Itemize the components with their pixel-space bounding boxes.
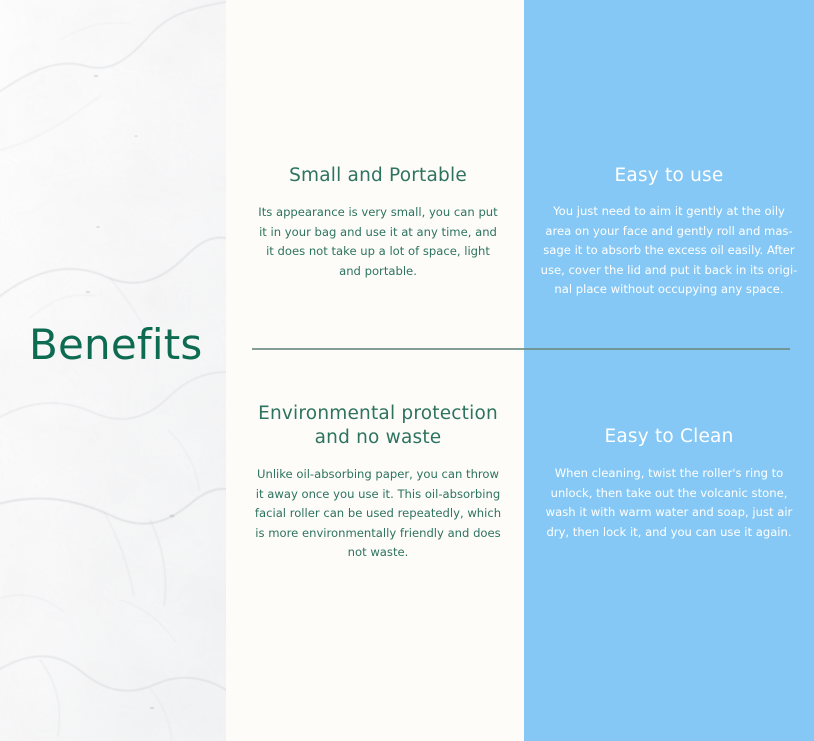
benefit-heading: Easy to Clean	[534, 425, 804, 449]
horizontal-divider-line	[252, 348, 790, 350]
benefit-card-environmental-protection: Environmental protection and no waste Un…	[247, 402, 509, 563]
blue-column-panel	[524, 0, 814, 741]
benefits-infographic-page: Benefits Small and Portable Its appearan…	[0, 0, 814, 741]
benefit-heading: Small and Portable	[247, 164, 509, 188]
page-title: Benefits	[29, 318, 219, 372]
benefit-body: When cleaning, twist the roller's ring t…	[534, 464, 804, 542]
benefit-body: Unlike oil-absorbing paper, you can thro…	[247, 465, 509, 563]
benefit-body: You just need to aim it gently at the oi…	[534, 202, 804, 300]
cream-column-panel	[232, 0, 524, 741]
benefit-body: Its appearance is very small, you can pu…	[247, 203, 509, 281]
benefit-card-easy-to-use: Easy to use You just need to aim it gent…	[534, 164, 804, 300]
benefit-heading: Easy to use	[534, 164, 804, 188]
benefit-card-easy-to-clean: Easy to Clean When cleaning, twist the r…	[534, 425, 804, 542]
benefit-card-small-and-portable: Small and Portable Its appearance is ver…	[247, 164, 509, 281]
benefit-heading: Environmental protection and no waste	[247, 402, 509, 450]
